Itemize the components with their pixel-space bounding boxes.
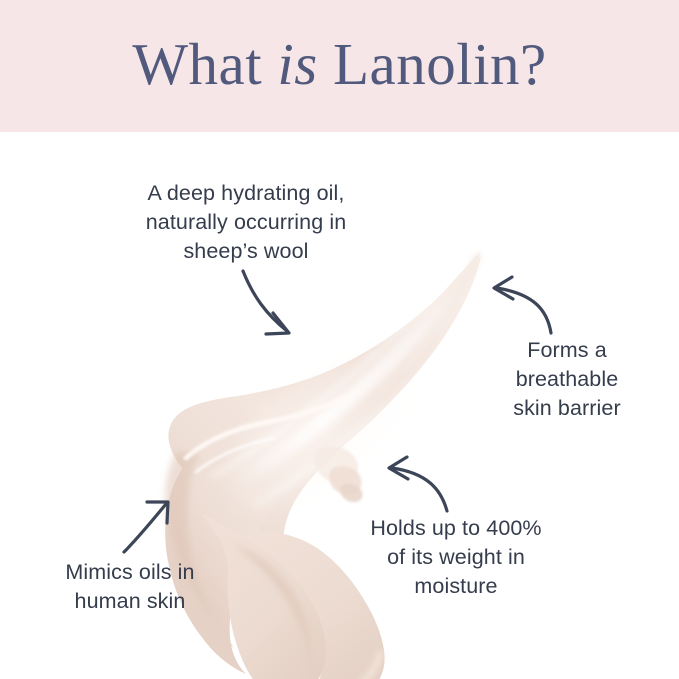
callout-text-mimics: Mimics oils in human skin: [30, 558, 230, 616]
page-title-italic-word: is: [277, 35, 317, 94]
infographic-canvas: What is Lanolin?: [0, 0, 679, 679]
page-title-suffix: Lanolin?: [318, 35, 547, 94]
page-title: What is Lanolin?: [0, 0, 679, 132]
callout-text-hydrating: A deep hydrating oil, naturally occurrin…: [96, 179, 396, 266]
callout-text-barrier: Forms a breathable skin barrier: [474, 336, 660, 423]
page-title-prefix: What: [132, 35, 277, 94]
callout-text-moisture: Holds up to 400% of its weight in moistu…: [330, 514, 582, 601]
